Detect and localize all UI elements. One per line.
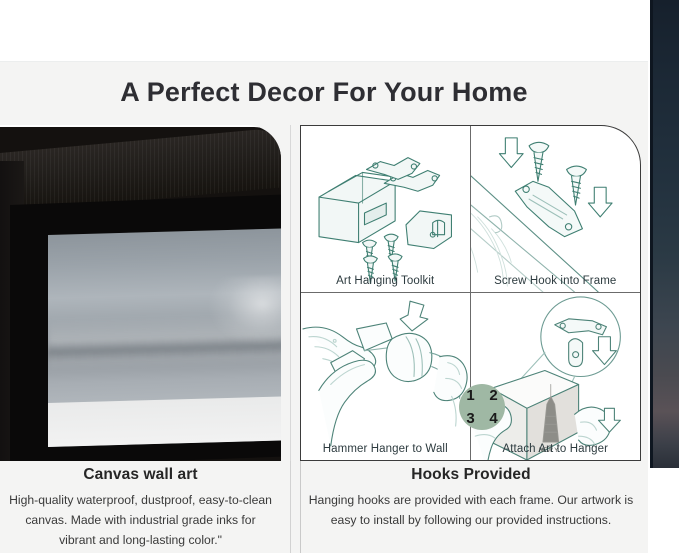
step-number-2: 2 bbox=[482, 384, 505, 407]
product-photo bbox=[0, 125, 281, 461]
step-3-caption: Hammer Hanger to Wall bbox=[301, 443, 470, 455]
blurb-canvas-body: High-quality waterproof, dustproof, easy… bbox=[0, 490, 281, 550]
hammer-hanger-icon bbox=[301, 293, 470, 460]
step-number-badge: 1 2 3 4 bbox=[459, 384, 505, 430]
strip-edge bbox=[650, 0, 653, 468]
instruction-step-4: NEW Y Attach Art bbox=[471, 293, 641, 460]
step-number-4: 4 bbox=[482, 407, 505, 430]
attach-art-icon: NEW Y bbox=[471, 293, 641, 460]
blurb-canvas-title: Canvas wall art bbox=[0, 466, 281, 484]
blurb-hooks-body: Hanging hooks are provided with each fra… bbox=[301, 490, 641, 530]
content-row: Art Hanging Toolkit bbox=[0, 125, 648, 461]
artwork-spray bbox=[208, 275, 281, 348]
description-row: Canvas wall art High-quality waterproof,… bbox=[0, 466, 648, 553]
blurb-canvas: Canvas wall art High-quality waterproof,… bbox=[0, 466, 281, 550]
column-divider bbox=[290, 125, 291, 461]
blurb-hooks: Hooks Provided Hanging hooks are provide… bbox=[301, 466, 641, 530]
instruction-step-1: Art Hanging Toolkit bbox=[301, 126, 471, 293]
step-1-caption: Art Hanging Toolkit bbox=[301, 275, 470, 287]
blurb-hooks-title: Hooks Provided bbox=[301, 466, 641, 484]
artwork-mat bbox=[48, 396, 281, 447]
page-title: A Perfect Decor For Your Home bbox=[0, 77, 648, 108]
adjacent-photo-strip bbox=[650, 0, 679, 468]
screw-hook-icon bbox=[471, 126, 641, 292]
picture-frame bbox=[0, 127, 281, 461]
step-2-caption: Screw Hook into Frame bbox=[471, 275, 641, 287]
step-4-caption: Attach Art to Hanger bbox=[471, 443, 641, 455]
card-top-hairline bbox=[0, 61, 648, 62]
infographic-card: A Perfect Decor For Your Home bbox=[0, 61, 648, 553]
description-divider bbox=[290, 461, 291, 553]
instruction-step-2: Screw Hook into Frame bbox=[471, 126, 641, 293]
toolkit-icon bbox=[301, 126, 470, 292]
step-number-1: 1 bbox=[459, 384, 482, 407]
canvas-artwork bbox=[48, 228, 281, 447]
step-number-3: 3 bbox=[459, 407, 482, 430]
instruction-step-3: Hammer Hanger to Wall bbox=[301, 293, 471, 460]
page-root: A Perfect Decor For Your Home bbox=[0, 0, 679, 553]
